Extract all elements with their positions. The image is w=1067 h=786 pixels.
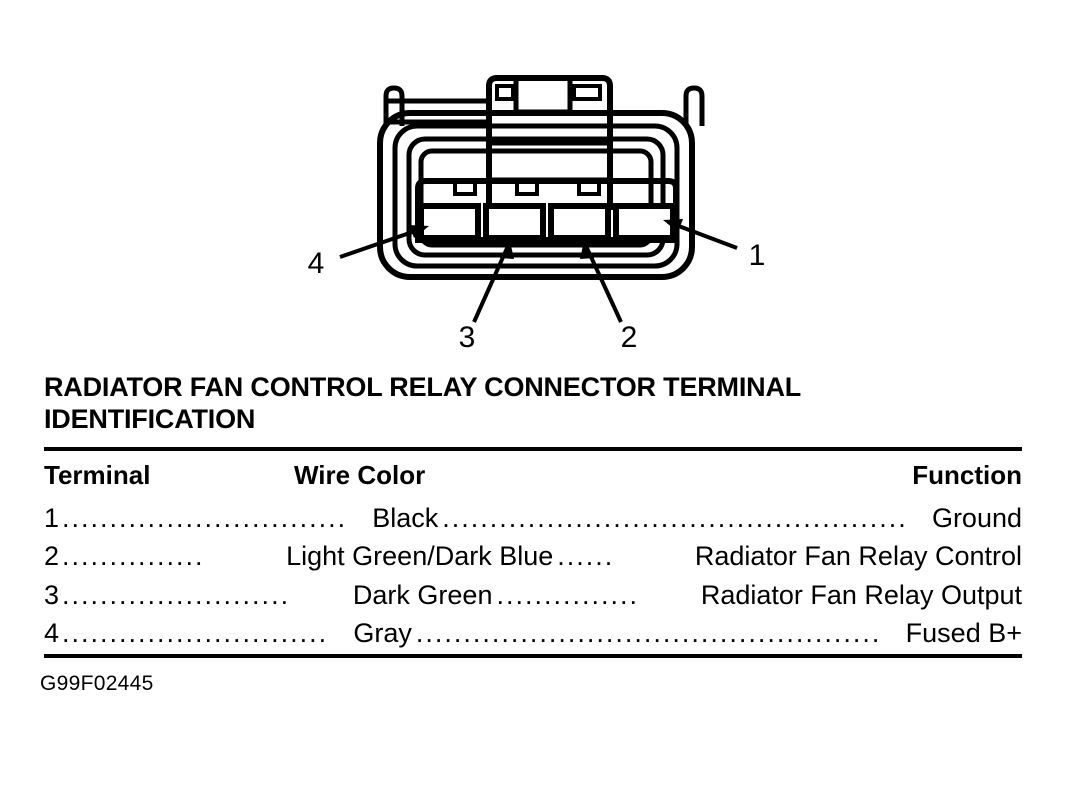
callout-label-4: 4 xyxy=(308,247,325,280)
leader-dots-right: ...... xyxy=(557,537,692,575)
column-header-wire-color: Wire Color xyxy=(294,460,912,491)
leader-dots-right: ........................................… xyxy=(416,614,903,652)
terminal-cavity-4 xyxy=(421,206,478,238)
cell-function: Radiator Fan Relay Output xyxy=(698,576,1022,614)
connector-body xyxy=(340,78,737,322)
table-row: 2 ............... Light Green/Dark Blue … xyxy=(44,537,1022,575)
latch-left-step xyxy=(497,86,513,99)
table-row: 4 ............................ Gray ....… xyxy=(44,614,1022,652)
terminal-cavity-1 xyxy=(616,206,673,238)
leader-dots-left: ............... xyxy=(62,537,282,575)
cell-terminal: 1 xyxy=(44,499,62,537)
callout-label-2: 2 xyxy=(621,321,638,354)
terminal-cavity-2 xyxy=(551,206,608,238)
cell-wire-color: Black xyxy=(368,499,442,537)
cell-terminal: 3 xyxy=(44,576,62,614)
terminal-identification-table: Terminal Wire Color Function 1 .........… xyxy=(44,447,1022,658)
column-header-function: Function xyxy=(912,460,1022,491)
table-row: 1 .............................. Black .… xyxy=(44,499,1022,537)
figure-reference-code: G99F02445 xyxy=(40,672,1067,696)
cell-wire-color: Dark Green xyxy=(349,576,497,614)
leader-dots-left: .............................. xyxy=(62,499,368,537)
cell-function: Fused B+ xyxy=(903,614,1022,652)
cell-function: Radiator Fan Relay Control xyxy=(692,537,1022,575)
cell-wire-color: Gray xyxy=(349,614,416,652)
column-header-terminal: Terminal xyxy=(44,460,294,491)
leader-dots-right: ........................................… xyxy=(442,499,929,537)
terminal-cavity-3 xyxy=(486,206,543,238)
table-header-row: Terminal Wire Color Function xyxy=(44,451,1022,499)
cell-wire-color: Light Green/Dark Blue xyxy=(282,537,557,575)
text-content-area: RADIATOR FAN CONTROL RELAY CONNECTOR TER… xyxy=(0,360,1067,696)
leader-dots-right: ............... xyxy=(496,576,697,614)
leader-dots-left: ........................ xyxy=(62,576,349,614)
table-row: 3 ........................ Dark Green ..… xyxy=(44,576,1022,614)
right-flange xyxy=(686,88,702,126)
cell-terminal: 2 xyxy=(44,537,62,575)
cell-function: Ground xyxy=(929,499,1022,537)
callout-label-1: 1 xyxy=(749,239,766,272)
connector-diagram: 4 1 3 2 xyxy=(0,0,1067,360)
cell-terminal: 4 xyxy=(44,614,62,652)
latch-tab-notch xyxy=(516,78,570,112)
leader-dots-left: ............................ xyxy=(62,614,349,652)
table-bottom-rule xyxy=(44,654,1022,658)
callout-label-3: 3 xyxy=(459,321,476,354)
page-title: RADIATOR FAN CONTROL RELAY CONNECTOR TER… xyxy=(44,372,1024,435)
latch-right-step xyxy=(574,86,600,99)
